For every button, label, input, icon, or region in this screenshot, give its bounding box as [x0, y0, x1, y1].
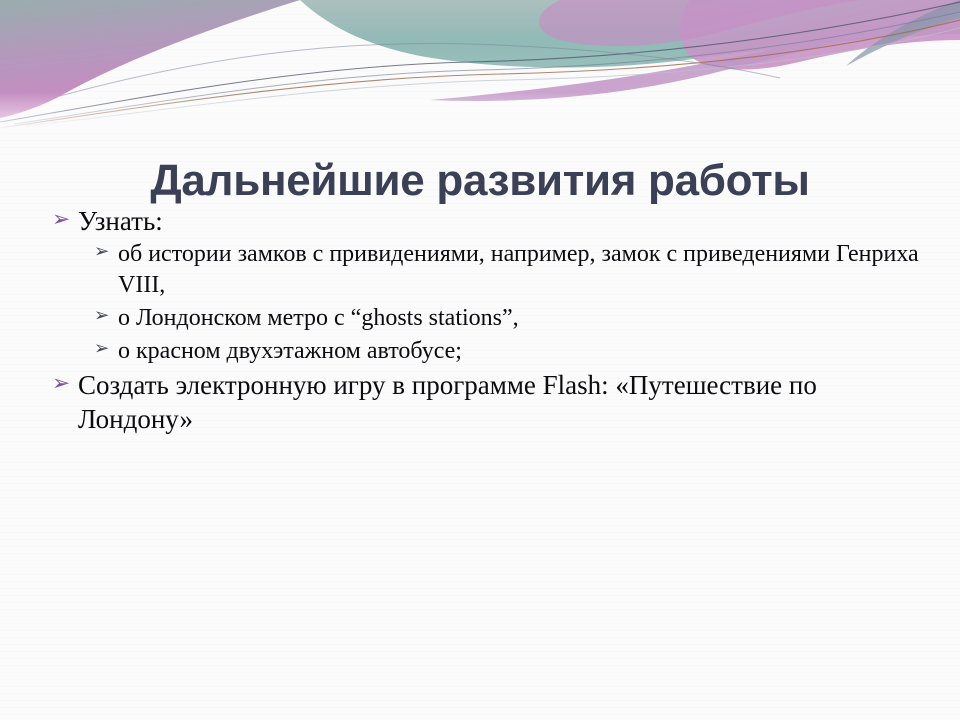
- list-item: ➢ Создать электронную игру в программе F…: [48, 369, 928, 436]
- wave-pink-cap: [539, 0, 860, 46]
- list-item: ➢ об истории замков с привидениями, напр…: [48, 239, 928, 299]
- list-item-text: Узнать:: [78, 205, 928, 238]
- wave-left-wedge: [0, 0, 300, 118]
- wave-stroke-light: [26, 28, 960, 126]
- chevron-arrow-bullet-icon: ➢: [94, 338, 118, 361]
- presentation-slide: Дальнейшие развития работы ➢ Узнать: ➢ о…: [0, 0, 960, 720]
- wave-header-graphic: [0, 0, 960, 130]
- chevron-arrow-bullet-icon: ➢: [94, 305, 118, 328]
- wave-mauve-sweep: [430, 10, 960, 101]
- list-item: ➢ о красном двухэтажном автобусе;: [48, 336, 928, 366]
- chevron-arrow-bullet-icon: ➢: [52, 372, 78, 399]
- page-title: Дальнейшие развития работы: [0, 156, 960, 205]
- wave-stroke-arc: [60, 43, 780, 96]
- bullet-list: ➢ Узнать: ➢ об истории замков с привиден…: [48, 205, 928, 437]
- list-item-text: о Лондонском метро с “ghosts stations”,: [118, 303, 928, 333]
- wave-stroke-copper: [0, 20, 960, 128]
- wave-stroke-slate-1: [0, 2, 960, 122]
- wave-teal-band: [300, 0, 960, 68]
- list-item-text: о красном двухэтажном автобусе;: [118, 336, 928, 366]
- list-item-text: Создать электронную игру в программе Fla…: [78, 369, 928, 436]
- chevron-arrow-bullet-icon: ➢: [94, 241, 118, 264]
- wave-pink-top-right: [680, 0, 960, 70]
- list-item: ➢ Узнать:: [48, 205, 928, 238]
- wave-slate-band: [846, 0, 960, 66]
- wave-stroke-slate-2: [14, 12, 960, 124]
- list-item-text: об истории замков с привидениями, наприм…: [118, 239, 928, 299]
- wave-fade-overlay: [0, 92, 960, 130]
- chevron-arrow-bullet-icon: ➢: [52, 207, 78, 234]
- list-item: ➢ о Лондонском метро с “ghosts stations”…: [48, 303, 928, 333]
